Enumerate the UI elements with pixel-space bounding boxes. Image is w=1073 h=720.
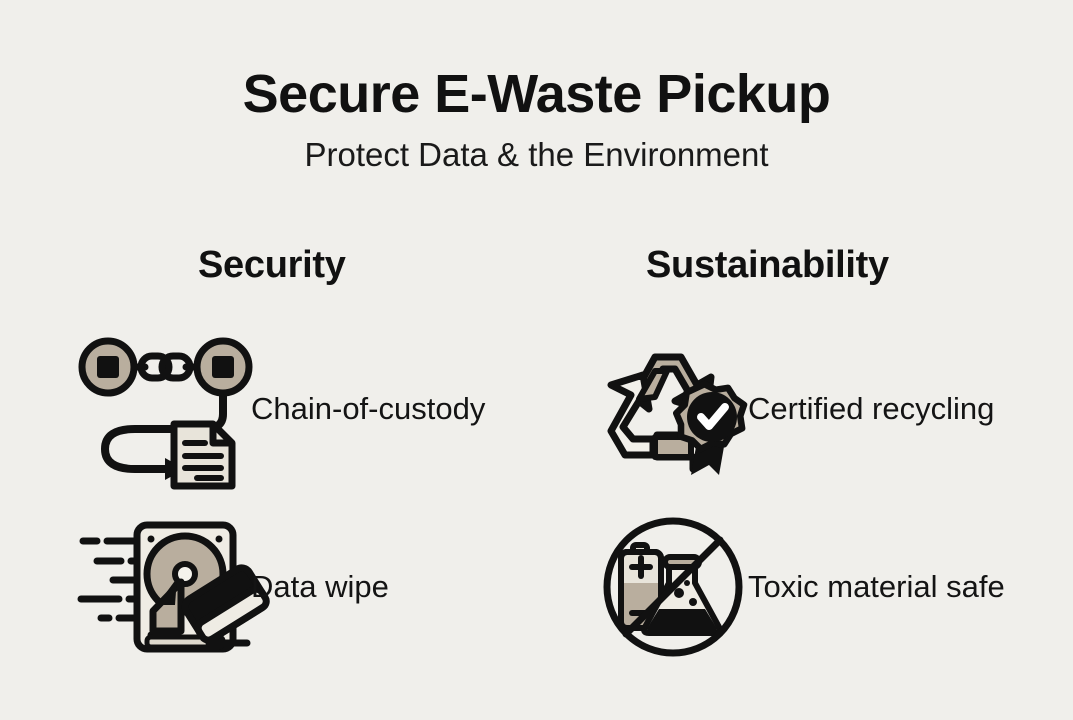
column-heading-sustainability: Sustainability <box>598 244 1072 290</box>
column-sustainability: Sustainability <box>536 244 1072 684</box>
certified-recycling-icon <box>598 334 748 484</box>
column-security: Security <box>0 244 536 684</box>
poster: Secure E-Waste Pickup Protect Data & the… <box>0 0 1073 720</box>
feature-chain-of-custody: Chain-of-custody <box>75 334 536 484</box>
feature-label-toxic-material-safe: Toxic material safe <box>748 564 1005 609</box>
no-toxic-material-icon <box>598 512 748 662</box>
poster-header: Secure E-Waste Pickup Protect Data & the… <box>0 66 1073 174</box>
hard-drive-wipe-icon <box>75 512 251 662</box>
page-title: Secure E-Waste Pickup <box>0 66 1073 123</box>
feature-columns: Security <box>0 244 1073 684</box>
feature-data-wipe: Data wipe <box>75 512 536 662</box>
feature-label-chain-of-custody: Chain-of-custody <box>251 386 485 431</box>
page-subtitle: Protect Data & the Environment <box>0 137 1073 173</box>
feature-toxic-material-safe: Toxic material safe <box>598 512 1072 662</box>
feature-label-data-wipe: Data wipe <box>251 564 389 609</box>
feature-label-certified-recycling: Certified recycling <box>748 386 994 431</box>
feature-certified-recycling: Certified recycling <box>598 334 1072 484</box>
column-heading-security: Security <box>75 244 536 290</box>
chain-of-custody-icon <box>75 334 251 484</box>
